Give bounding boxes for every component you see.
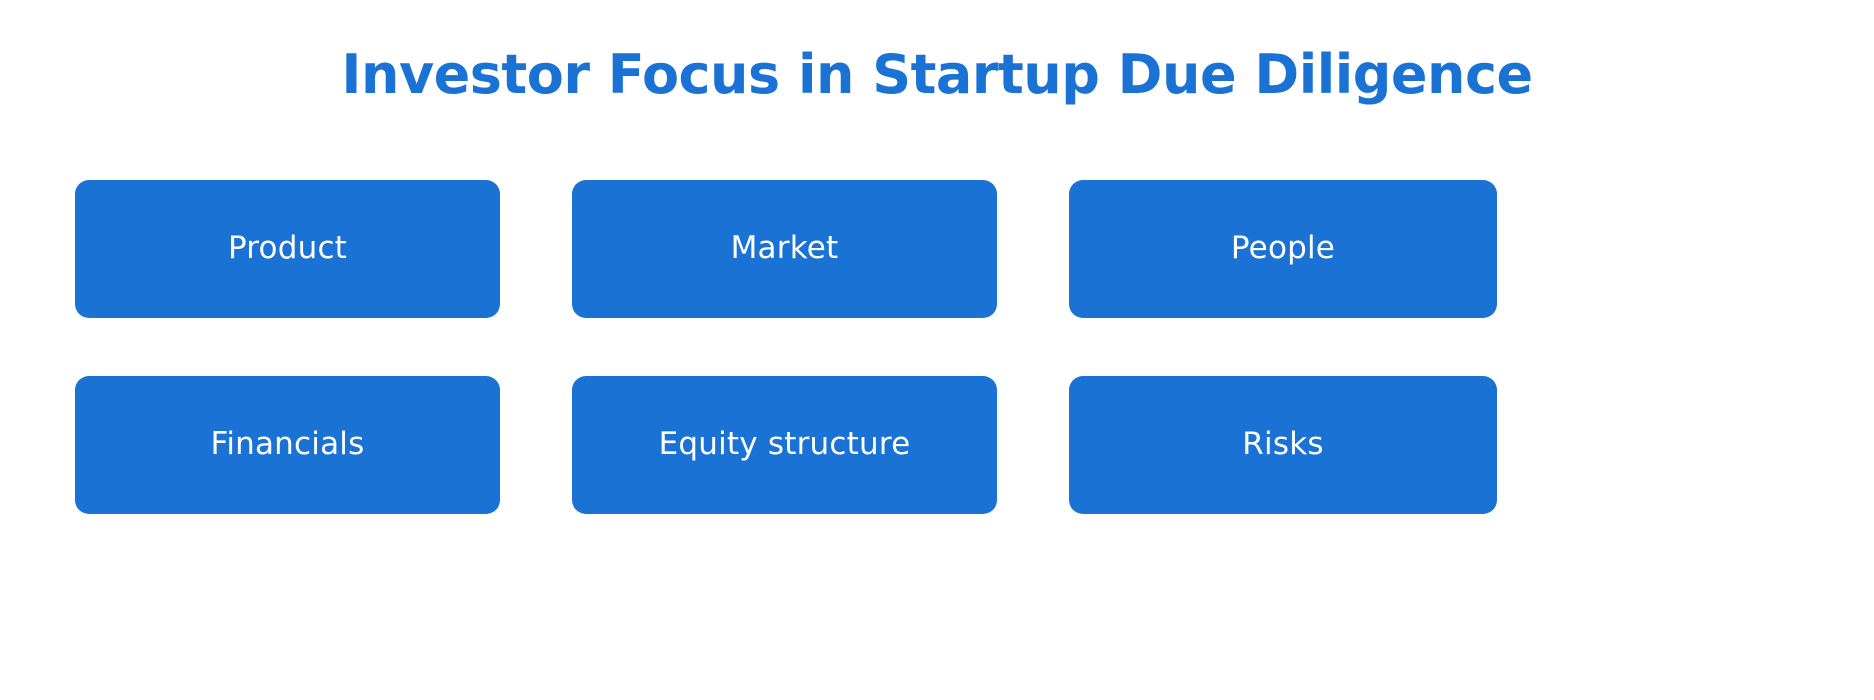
focus-area-grid: Product Market People Financials Equity … xyxy=(75,180,1799,514)
focus-box-label: Risks xyxy=(1242,426,1323,463)
diagram-canvas: Investor Focus in Startup Due Diligence … xyxy=(0,0,1874,700)
focus-box-market[interactable]: Market xyxy=(572,180,997,318)
focus-box-equity-structure[interactable]: Equity structure xyxy=(572,376,997,514)
focus-box-people[interactable]: People xyxy=(1069,180,1497,318)
focus-box-label: Financials xyxy=(211,426,365,463)
focus-box-product[interactable]: Product xyxy=(75,180,500,318)
focus-box-label: People xyxy=(1231,230,1335,267)
focus-box-financials[interactable]: Financials xyxy=(75,376,500,514)
focus-box-risks[interactable]: Risks xyxy=(1069,376,1497,514)
page-title: Investor Focus in Startup Due Diligence xyxy=(0,44,1874,106)
focus-box-label: Market xyxy=(731,230,839,267)
focus-box-label: Product xyxy=(228,230,347,267)
focus-box-label: Equity structure xyxy=(659,426,911,463)
